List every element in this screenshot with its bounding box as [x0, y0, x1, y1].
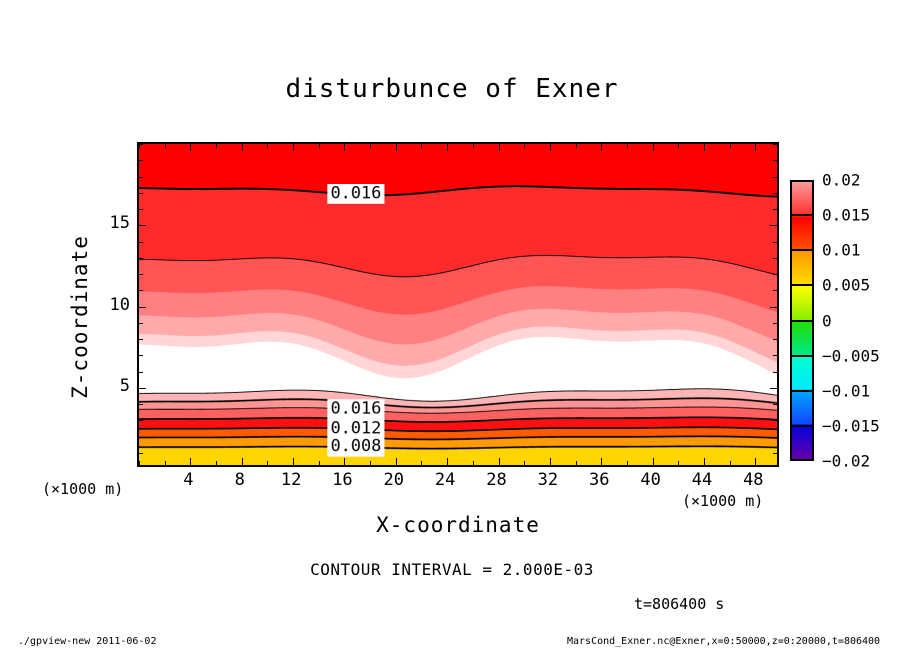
y-axis-tick-label: 15 — [108, 213, 130, 233]
x-axis-tick — [755, 144, 756, 151]
x-axis-tick — [627, 144, 628, 148]
y-axis-tick — [139, 355, 143, 356]
y-axis-tick — [770, 225, 777, 226]
x-axis-tick — [601, 144, 602, 151]
y-axis-tick — [139, 339, 143, 340]
x-axis-tick — [396, 458, 397, 465]
x-axis-tick — [165, 461, 166, 465]
y-axis-tick — [773, 339, 777, 340]
colorbar — [790, 180, 814, 461]
x-axis-tick — [704, 144, 705, 151]
x-axis-tick — [344, 144, 345, 151]
y-axis-tick — [770, 388, 777, 389]
x-axis-tick — [524, 144, 525, 148]
y-axis-tick — [139, 242, 143, 243]
x-axis-tick-label: 12 — [281, 470, 301, 490]
x-axis-tick — [576, 461, 577, 465]
y-axis-tick — [139, 404, 143, 405]
x-axis-tick — [293, 458, 294, 465]
y-axis-tick — [139, 225, 146, 226]
x-axis-tick-label: 8 — [235, 470, 245, 490]
colorbar-tick-label: −0.01 — [822, 381, 870, 400]
x-axis-unit-left: (×1000 m) — [42, 480, 123, 498]
x-axis-tick — [190, 144, 191, 151]
y-axis-tick — [773, 209, 777, 210]
x-axis-tick — [704, 458, 705, 465]
x-axis-tick — [601, 458, 602, 465]
y-axis-tick-label: 5 — [108, 376, 130, 396]
x-axis-tick — [678, 144, 679, 148]
colorbar-divider — [790, 355, 814, 357]
y-axis-tick — [773, 372, 777, 373]
colorbar-divider — [790, 425, 814, 427]
y-axis-tick — [139, 209, 143, 210]
x-axis-tick — [216, 461, 217, 465]
x-axis-tick — [421, 144, 422, 148]
x-axis-tick — [524, 461, 525, 465]
y-axis-tick — [773, 193, 777, 194]
x-axis-tick — [190, 458, 191, 465]
y-axis-tick — [773, 258, 777, 259]
y-axis-tick — [139, 388, 146, 389]
y-axis-label: Z-coordinate — [68, 197, 92, 437]
x-axis-tick — [267, 461, 268, 465]
colorbar-tick-label: 0.015 — [822, 206, 870, 225]
y-axis-tick — [139, 274, 143, 275]
y-axis-tick — [139, 372, 143, 373]
y-axis-tick — [773, 242, 777, 243]
x-axis-tick — [499, 144, 500, 151]
y-axis-tick — [773, 453, 777, 454]
x-axis-tick — [653, 458, 654, 465]
colorbar-tick-label: 0.02 — [822, 171, 861, 190]
x-axis-tick — [678, 461, 679, 465]
y-axis-tick — [139, 144, 143, 145]
x-axis-tick — [242, 144, 243, 151]
x-axis-tick — [242, 458, 243, 465]
x-axis-tick — [550, 144, 551, 151]
y-axis-tick — [139, 193, 143, 194]
y-axis-tick — [773, 323, 777, 324]
x-axis-tick-label: 4 — [183, 470, 193, 490]
x-axis-tick — [627, 461, 628, 465]
y-axis-tick — [770, 307, 777, 308]
x-axis-tick — [216, 144, 217, 148]
x-axis-tick — [421, 461, 422, 465]
x-axis-tick-label: 40 — [640, 470, 660, 490]
x-axis-tick — [653, 144, 654, 151]
y-axis-tick — [139, 290, 143, 291]
y-axis-tick — [773, 177, 777, 178]
y-axis-tick — [773, 437, 777, 438]
x-axis-tick — [370, 461, 371, 465]
y-axis-tick — [773, 420, 777, 421]
x-axis-tick — [319, 144, 320, 148]
footer-command: ./gpview-new 2011-06-02 — [18, 636, 156, 647]
colorbar-divider — [790, 249, 814, 251]
colorbar-tick-label: −0.02 — [822, 452, 870, 471]
x-axis-tick-label: 36 — [589, 470, 609, 490]
x-axis-tick — [499, 458, 500, 465]
colorbar-tick-label: 0.01 — [822, 241, 861, 260]
x-axis-unit-right: (×1000 m) — [682, 492, 763, 510]
colorbar-divider — [790, 390, 814, 392]
x-axis-tick — [576, 144, 577, 148]
x-axis-tick — [396, 144, 397, 151]
x-axis-tick — [139, 461, 140, 465]
x-axis-tick — [730, 144, 731, 148]
x-axis-label: X-coordinate — [137, 513, 779, 537]
y-axis-tick — [139, 307, 146, 308]
colorbar-tick-label: 0 — [822, 311, 832, 330]
colorbar-tick-label: −0.015 — [822, 416, 880, 435]
x-axis-tick — [755, 458, 756, 465]
x-axis-tick — [473, 461, 474, 465]
colorbar-tick-label: −0.005 — [822, 346, 880, 365]
x-axis-tick — [370, 144, 371, 148]
y-axis-tick — [773, 160, 777, 161]
x-axis-tick-label: 48 — [743, 470, 763, 490]
y-axis-tick — [139, 420, 143, 421]
x-axis-tick — [344, 458, 345, 465]
x-axis-tick — [267, 144, 268, 148]
time-stamp: t=806400 s — [634, 595, 724, 613]
y-axis-tick — [139, 258, 143, 259]
x-axis-tick-label: 20 — [384, 470, 404, 490]
y-axis-tick — [773, 274, 777, 275]
x-axis-tick — [730, 461, 731, 465]
y-axis-tick — [139, 323, 143, 324]
colorbar-divider — [790, 320, 814, 322]
y-axis-tick — [773, 355, 777, 356]
x-axis-tick-label: 44 — [692, 470, 712, 490]
x-axis-tick — [550, 458, 551, 465]
y-axis-tick — [139, 437, 143, 438]
contour-field-canvas — [139, 144, 777, 465]
x-axis-tick — [447, 144, 448, 151]
footer-source: MarsCond_Exner.nc@Exner,x=0:50000,z=0:20… — [567, 636, 880, 647]
y-axis-tick-label: 10 — [108, 295, 130, 315]
contour-interval-note: CONTOUR INTERVAL = 2.000E-03 — [0, 560, 904, 579]
colorbar-tick-label: 0.005 — [822, 276, 870, 295]
x-axis-tick-label: 24 — [435, 470, 455, 490]
contour-plot-area — [137, 142, 779, 467]
y-axis-tick — [773, 144, 777, 145]
x-axis-tick — [473, 144, 474, 148]
y-axis-tick — [139, 160, 143, 161]
x-axis-tick-label: 32 — [538, 470, 558, 490]
x-axis-tick — [293, 144, 294, 151]
colorbar-divider — [790, 284, 814, 286]
x-axis-tick-label: 28 — [486, 470, 506, 490]
page-title: disturbunce of Exner — [0, 74, 904, 104]
x-axis-tick — [165, 144, 166, 148]
x-axis-tick — [319, 461, 320, 465]
y-axis-tick — [773, 404, 777, 405]
y-axis-tick — [139, 177, 143, 178]
y-axis-tick — [139, 453, 143, 454]
colorbar-divider — [790, 214, 814, 216]
x-axis-tick-label: 16 — [332, 470, 352, 490]
y-axis-tick — [773, 290, 777, 291]
x-axis-tick — [447, 458, 448, 465]
